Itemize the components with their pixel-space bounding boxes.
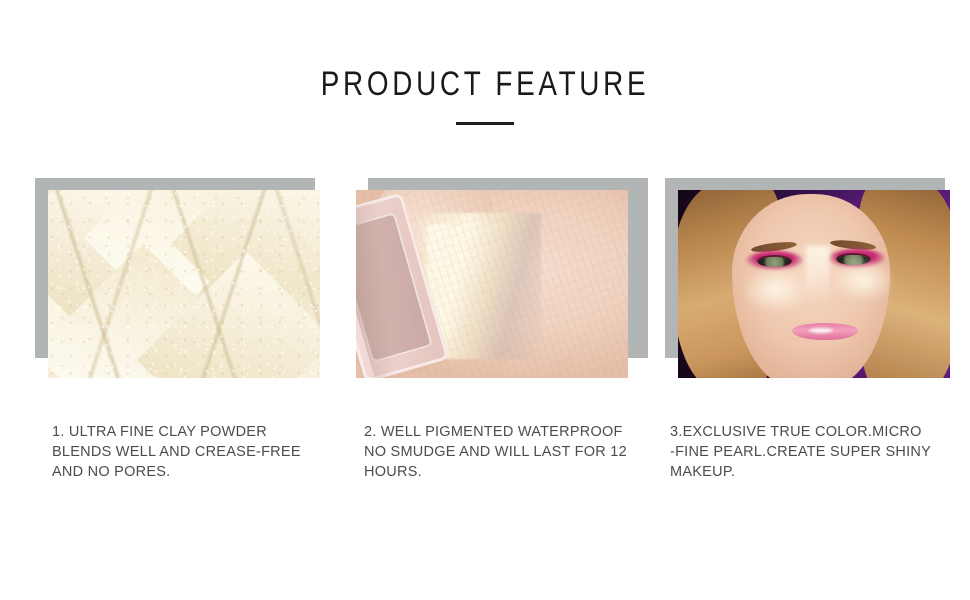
title-underline — [456, 122, 514, 125]
feature-3-caption: 3.EXCLUSIVE TRUE COLOR.MICRO -FINE PEARL… — [670, 422, 950, 482]
feature-1-caption: 1. ULTRA FINE CLAY POWDER BLENDS WELL AN… — [52, 422, 320, 482]
feature-1-photo — [48, 190, 320, 378]
feature-item-1: 1. ULTRA FINE CLAY POWDER BLENDS WELL AN… — [30, 170, 330, 530]
feature-row: 1. ULTRA FINE CLAY POWDER BLENDS WELL AN… — [0, 170, 970, 530]
feature-2-photo — [356, 190, 628, 378]
feature-1-media — [30, 170, 325, 382]
feature-3-photo — [678, 190, 950, 378]
feature-3-media — [660, 170, 955, 382]
feature-item-3: 3.EXCLUSIVE TRUE COLOR.MICRO -FINE PEARL… — [660, 170, 960, 530]
header: PRODUCT FEATURE — [0, 62, 970, 125]
feature-item-2: 2. WELL PIGMENTED WATERPROOF NO SMUDGE A… — [348, 170, 648, 530]
product-feature-banner: PRODUCT FEATURE — [0, 0, 970, 600]
feature-2-media — [348, 170, 643, 382]
feature-2-caption: 2. WELL PIGMENTED WATERPROOF NO SMUDGE A… — [364, 422, 636, 482]
page-title: PRODUCT FEATURE — [87, 62, 882, 106]
